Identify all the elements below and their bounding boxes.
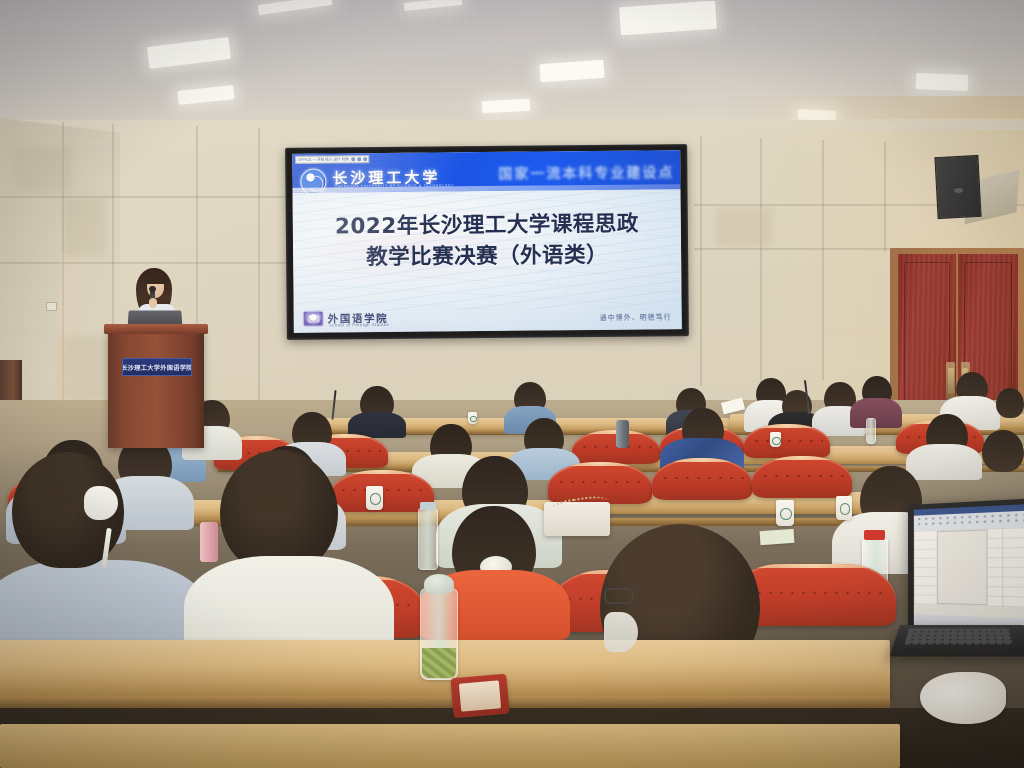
podium: 长沙理工大学外国语学院 bbox=[108, 330, 204, 448]
chair-trim bbox=[744, 424, 830, 428]
auditorium-chair[interactable] bbox=[652, 458, 752, 500]
presenter-hair-front bbox=[144, 273, 167, 284]
eyeglasses-icon bbox=[604, 588, 634, 604]
toolbar-dot-icon[interactable] bbox=[351, 157, 355, 161]
led-wall-display[interactable]: 长沙理工大学 CHANGSHA UNIVERSITY OF SCIENCE & … bbox=[285, 144, 689, 340]
bottle-cap bbox=[424, 574, 454, 594]
thermos-tumbler bbox=[200, 522, 218, 562]
bottle-greens bbox=[422, 648, 456, 678]
person-torso bbox=[906, 444, 982, 480]
presenter-hand bbox=[149, 298, 157, 308]
wall-discoloration bbox=[14, 146, 72, 192]
wall-discoloration bbox=[64, 198, 106, 256]
paper-cup bbox=[366, 486, 383, 510]
college-crest-icon bbox=[303, 311, 324, 327]
person-torso bbox=[850, 398, 902, 428]
chair-trim bbox=[752, 456, 852, 460]
display-panel: 长沙理工大学 CHANGSHA UNIVERSITY OF SCIENCE & … bbox=[292, 150, 682, 333]
ceiling-light-panel bbox=[916, 73, 969, 91]
face-mask-icon bbox=[604, 612, 638, 652]
spreadsheet-selection[interactable] bbox=[937, 529, 988, 605]
bottle-cap bbox=[420, 502, 436, 510]
wall-panel-seam bbox=[694, 248, 894, 250]
paper-cup bbox=[770, 432, 781, 447]
lecture-hall-photo: 长沙理工大学 CHANGSHA UNIVERSITY OF SCIENCE & … bbox=[0, 0, 1024, 768]
bottle-cap bbox=[864, 530, 885, 540]
slide-title: 2022年长沙理工大学课程思政 教学比赛决赛（外语类） bbox=[293, 209, 682, 274]
desk-edge bbox=[0, 696, 890, 708]
water-bottle bbox=[866, 418, 876, 444]
face-mask-icon bbox=[84, 486, 118, 520]
water-bottle bbox=[418, 508, 438, 570]
powerpoint-toolbar-strip[interactable]: OFFICE — 开始 插入 设计 切换 bbox=[295, 155, 369, 164]
thermos-tumbler bbox=[616, 420, 629, 448]
paper-cup bbox=[836, 496, 852, 520]
paper-cup bbox=[776, 500, 794, 526]
podium-sign-label: 长沙理工大学外国语学院 bbox=[122, 363, 192, 372]
wall-panel-seam bbox=[0, 196, 286, 198]
laptop[interactable] bbox=[900, 505, 1024, 675]
chair-trim bbox=[548, 462, 652, 466]
auditorium-chair[interactable] bbox=[752, 456, 852, 498]
slide-title-line-1: 2022年长沙理工大学课程思政 bbox=[335, 212, 639, 240]
slide-title-line-2: 教学比赛决赛（外语类） bbox=[293, 240, 681, 274]
laptop-screen[interactable] bbox=[914, 504, 1024, 630]
wall-panel-seam bbox=[822, 140, 824, 380]
student-desk bbox=[0, 724, 900, 768]
chair-trim bbox=[330, 470, 434, 474]
wall-power-outlet[interactable] bbox=[46, 302, 57, 311]
person-head bbox=[982, 430, 1024, 472]
wall-panel-seam bbox=[700, 136, 702, 386]
podium-sign: 长沙理工大学外国语学院 bbox=[122, 358, 192, 376]
ceiling-light-panel bbox=[482, 99, 531, 113]
presentation-slide: 长沙理工大学 CHANGSHA UNIVERSITY OF SCIENCE & … bbox=[292, 150, 682, 333]
wall-discoloration bbox=[716, 208, 772, 246]
door-handle-icon[interactable] bbox=[948, 368, 954, 394]
wall-panel-seam bbox=[760, 138, 762, 384]
chair-trim bbox=[730, 564, 896, 568]
podium-top-surface bbox=[104, 324, 208, 334]
slide-footer: 外国语学院 School of Foreign Studies bbox=[303, 310, 389, 327]
wall-panel-seam bbox=[0, 262, 286, 264]
college-name-en: School of Foreign Studies bbox=[329, 322, 389, 328]
university-name-en: CHANGSHA UNIVERSITY OF SCIENCE & TECHNOL… bbox=[334, 183, 454, 188]
tissue-cloth bbox=[920, 672, 1006, 724]
university-crest-icon bbox=[300, 169, 326, 194]
chair-trim bbox=[652, 458, 752, 462]
toolbar-dot-icon[interactable] bbox=[363, 157, 367, 161]
wall-panel-seam bbox=[258, 128, 260, 418]
wall-speaker-icon bbox=[934, 155, 981, 219]
paper-cup bbox=[468, 412, 477, 424]
person-head bbox=[220, 450, 338, 572]
laptop-lid bbox=[908, 498, 1024, 639]
toolbar-dot-icon[interactable] bbox=[357, 157, 361, 161]
smartphone[interactable] bbox=[450, 674, 509, 719]
person-head bbox=[996, 388, 1024, 418]
slide-banner-text: 国家一流本科专业建设点 bbox=[498, 162, 674, 184]
powerpoint-toolbar-label: OFFICE — 开始 插入 设计 切换 bbox=[298, 157, 349, 162]
college-motto: 通中博外、明德笃行 bbox=[600, 311, 672, 322]
laptop-keyboard[interactable] bbox=[905, 629, 1013, 645]
wall-panel-seam bbox=[884, 142, 886, 252]
auditorium-chair[interactable] bbox=[744, 424, 830, 458]
document-paper bbox=[760, 529, 795, 545]
